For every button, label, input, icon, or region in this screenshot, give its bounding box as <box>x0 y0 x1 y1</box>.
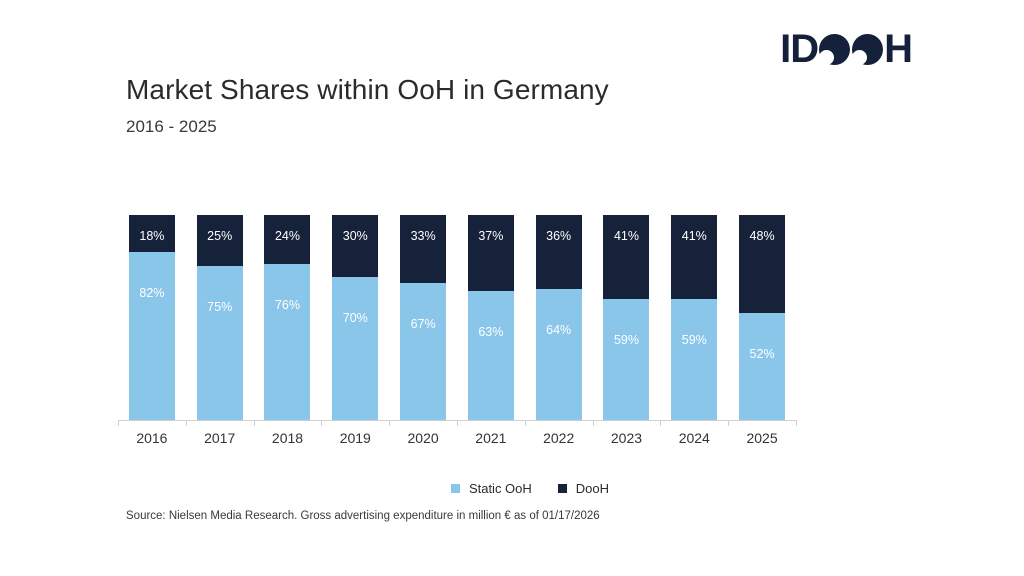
bar-segment-dooh: 18% <box>129 215 175 252</box>
bar-value-label: 37% <box>468 229 514 243</box>
x-axis-tick-label: 2019 <box>321 430 389 446</box>
x-axis-tick-label: 2016 <box>118 430 186 446</box>
bar-segment-dooh: 33% <box>400 215 446 283</box>
bar-segment-dooh: 48% <box>739 215 785 313</box>
bar-value-label: 30% <box>332 229 378 243</box>
x-axis-ticks <box>118 420 796 426</box>
bar-value-label: 67% <box>400 317 446 331</box>
bar-value-label: 59% <box>671 333 717 347</box>
logo-crescent-o-icon <box>819 34 850 65</box>
bar-segment-static-ooh: 59% <box>671 299 717 420</box>
x-axis-tick-label: 2022 <box>525 430 593 446</box>
page-title: Market Shares within OoH in Germany <box>126 74 609 106</box>
bar-column: 24%76% <box>254 215 322 420</box>
page-subtitle: 2016 - 2025 <box>126 117 217 137</box>
stacked-bar: 48%52% <box>739 215 785 420</box>
bar-column: 41%59% <box>660 215 728 420</box>
bar-value-label: 18% <box>129 229 175 243</box>
bar-value-label: 70% <box>332 311 378 325</box>
bar-value-label: 41% <box>671 229 717 243</box>
x-axis-tick <box>660 420 661 426</box>
bar-value-label: 41% <box>603 229 649 243</box>
bar-value-label: 82% <box>129 286 175 300</box>
x-axis-tick <box>321 420 322 426</box>
bar-segment-dooh: 37% <box>468 215 514 291</box>
bar-value-label: 24% <box>264 229 310 243</box>
bar-segment-static-ooh: 63% <box>468 291 514 420</box>
bar-segment-static-ooh: 76% <box>264 264 310 420</box>
x-axis-tick-label: 2017 <box>186 430 254 446</box>
x-axis-tick-label: 2018 <box>254 430 322 446</box>
bar-value-label: 52% <box>739 347 785 361</box>
bar-column: 33%67% <box>389 215 457 420</box>
bar-value-label: 63% <box>468 325 514 339</box>
bar-column: 37%63% <box>457 215 525 420</box>
x-axis-tick <box>186 420 187 426</box>
stacked-bar: 41%59% <box>603 215 649 420</box>
legend-item[interactable]: Static OoH <box>451 481 532 496</box>
logo-text-after: H <box>884 29 912 69</box>
legend-label: Static OoH <box>469 481 532 496</box>
slide-canvas: ID H Market Shares within OoH in Germany… <box>0 0 1024 576</box>
bar-segment-dooh: 41% <box>671 215 717 299</box>
bar-segment-static-ooh: 70% <box>332 277 378 421</box>
logo-crescent-o2-icon <box>852 34 883 65</box>
stacked-bar: 36%64% <box>536 215 582 420</box>
bar-value-label: 76% <box>264 298 310 312</box>
bar-column: 48%52% <box>728 215 796 420</box>
x-axis-tick <box>457 420 458 426</box>
bar-column: 41%59% <box>593 215 661 420</box>
idooh-logo: ID H <box>780 29 912 69</box>
bar-segment-static-ooh: 59% <box>603 299 649 420</box>
bar-segment-static-ooh: 64% <box>536 289 582 420</box>
x-axis-tick-label: 2025 <box>728 430 796 446</box>
bar-segment-static-ooh: 75% <box>197 266 243 420</box>
legend-item[interactable]: DooH <box>558 481 609 496</box>
x-axis-tick <box>118 420 119 426</box>
stacked-bar: 33%67% <box>400 215 446 420</box>
bar-value-label: 48% <box>739 229 785 243</box>
bar-column: 36%64% <box>525 215 593 420</box>
bar-segment-dooh: 24% <box>264 215 310 264</box>
stacked-bar: 41%59% <box>671 215 717 420</box>
bar-column: 30%70% <box>321 215 389 420</box>
chart-legend: Static OoHDooH <box>0 481 1024 496</box>
bar-value-label: 75% <box>197 300 243 314</box>
x-axis-tick <box>254 420 255 426</box>
x-axis-tick-label: 2024 <box>660 430 728 446</box>
stacked-bar: 24%76% <box>264 215 310 420</box>
legend-swatch-icon <box>451 484 460 493</box>
logo-text-before: ID <box>780 29 818 69</box>
stacked-bar: 30%70% <box>332 215 378 420</box>
source-note: Source: Nielsen Media Research. Gross ad… <box>126 510 600 522</box>
x-axis-tick <box>525 420 526 426</box>
x-axis-tick <box>728 420 729 426</box>
bar-segment-dooh: 36% <box>536 215 582 289</box>
x-axis-tick <box>389 420 390 426</box>
bar-value-label: 36% <box>536 229 582 243</box>
bar-value-label: 64% <box>536 323 582 337</box>
x-axis-tick-label: 2023 <box>593 430 661 446</box>
bar-segment-dooh: 25% <box>197 215 243 266</box>
stacked-bar-chart: 18%82%25%75%24%76%30%70%33%67%37%63%36%6… <box>118 215 796 420</box>
logo-text: ID H <box>780 29 912 69</box>
stacked-bar: 25%75% <box>197 215 243 420</box>
stacked-bar: 37%63% <box>468 215 514 420</box>
bar-column: 25%75% <box>186 215 254 420</box>
legend-swatch-icon <box>558 484 567 493</box>
bar-value-label: 33% <box>400 229 446 243</box>
stacked-bar: 18%82% <box>129 215 175 420</box>
bar-segment-static-ooh: 52% <box>739 313 785 420</box>
x-axis-labels: 2016201720182019202020212022202320242025 <box>118 430 796 446</box>
x-axis-tick <box>593 420 594 426</box>
bar-segment-static-ooh: 67% <box>400 283 446 420</box>
bar-segment-dooh: 30% <box>332 215 378 277</box>
bar-column: 18%82% <box>118 215 186 420</box>
bar-segment-dooh: 41% <box>603 215 649 299</box>
bar-segment-static-ooh: 82% <box>129 252 175 420</box>
bar-value-label: 59% <box>603 333 649 347</box>
bar-value-label: 25% <box>197 229 243 243</box>
x-axis-tick-label: 2021 <box>457 430 525 446</box>
x-axis-tick <box>796 420 797 426</box>
legend-label: DooH <box>576 481 609 496</box>
x-axis-tick-label: 2020 <box>389 430 457 446</box>
